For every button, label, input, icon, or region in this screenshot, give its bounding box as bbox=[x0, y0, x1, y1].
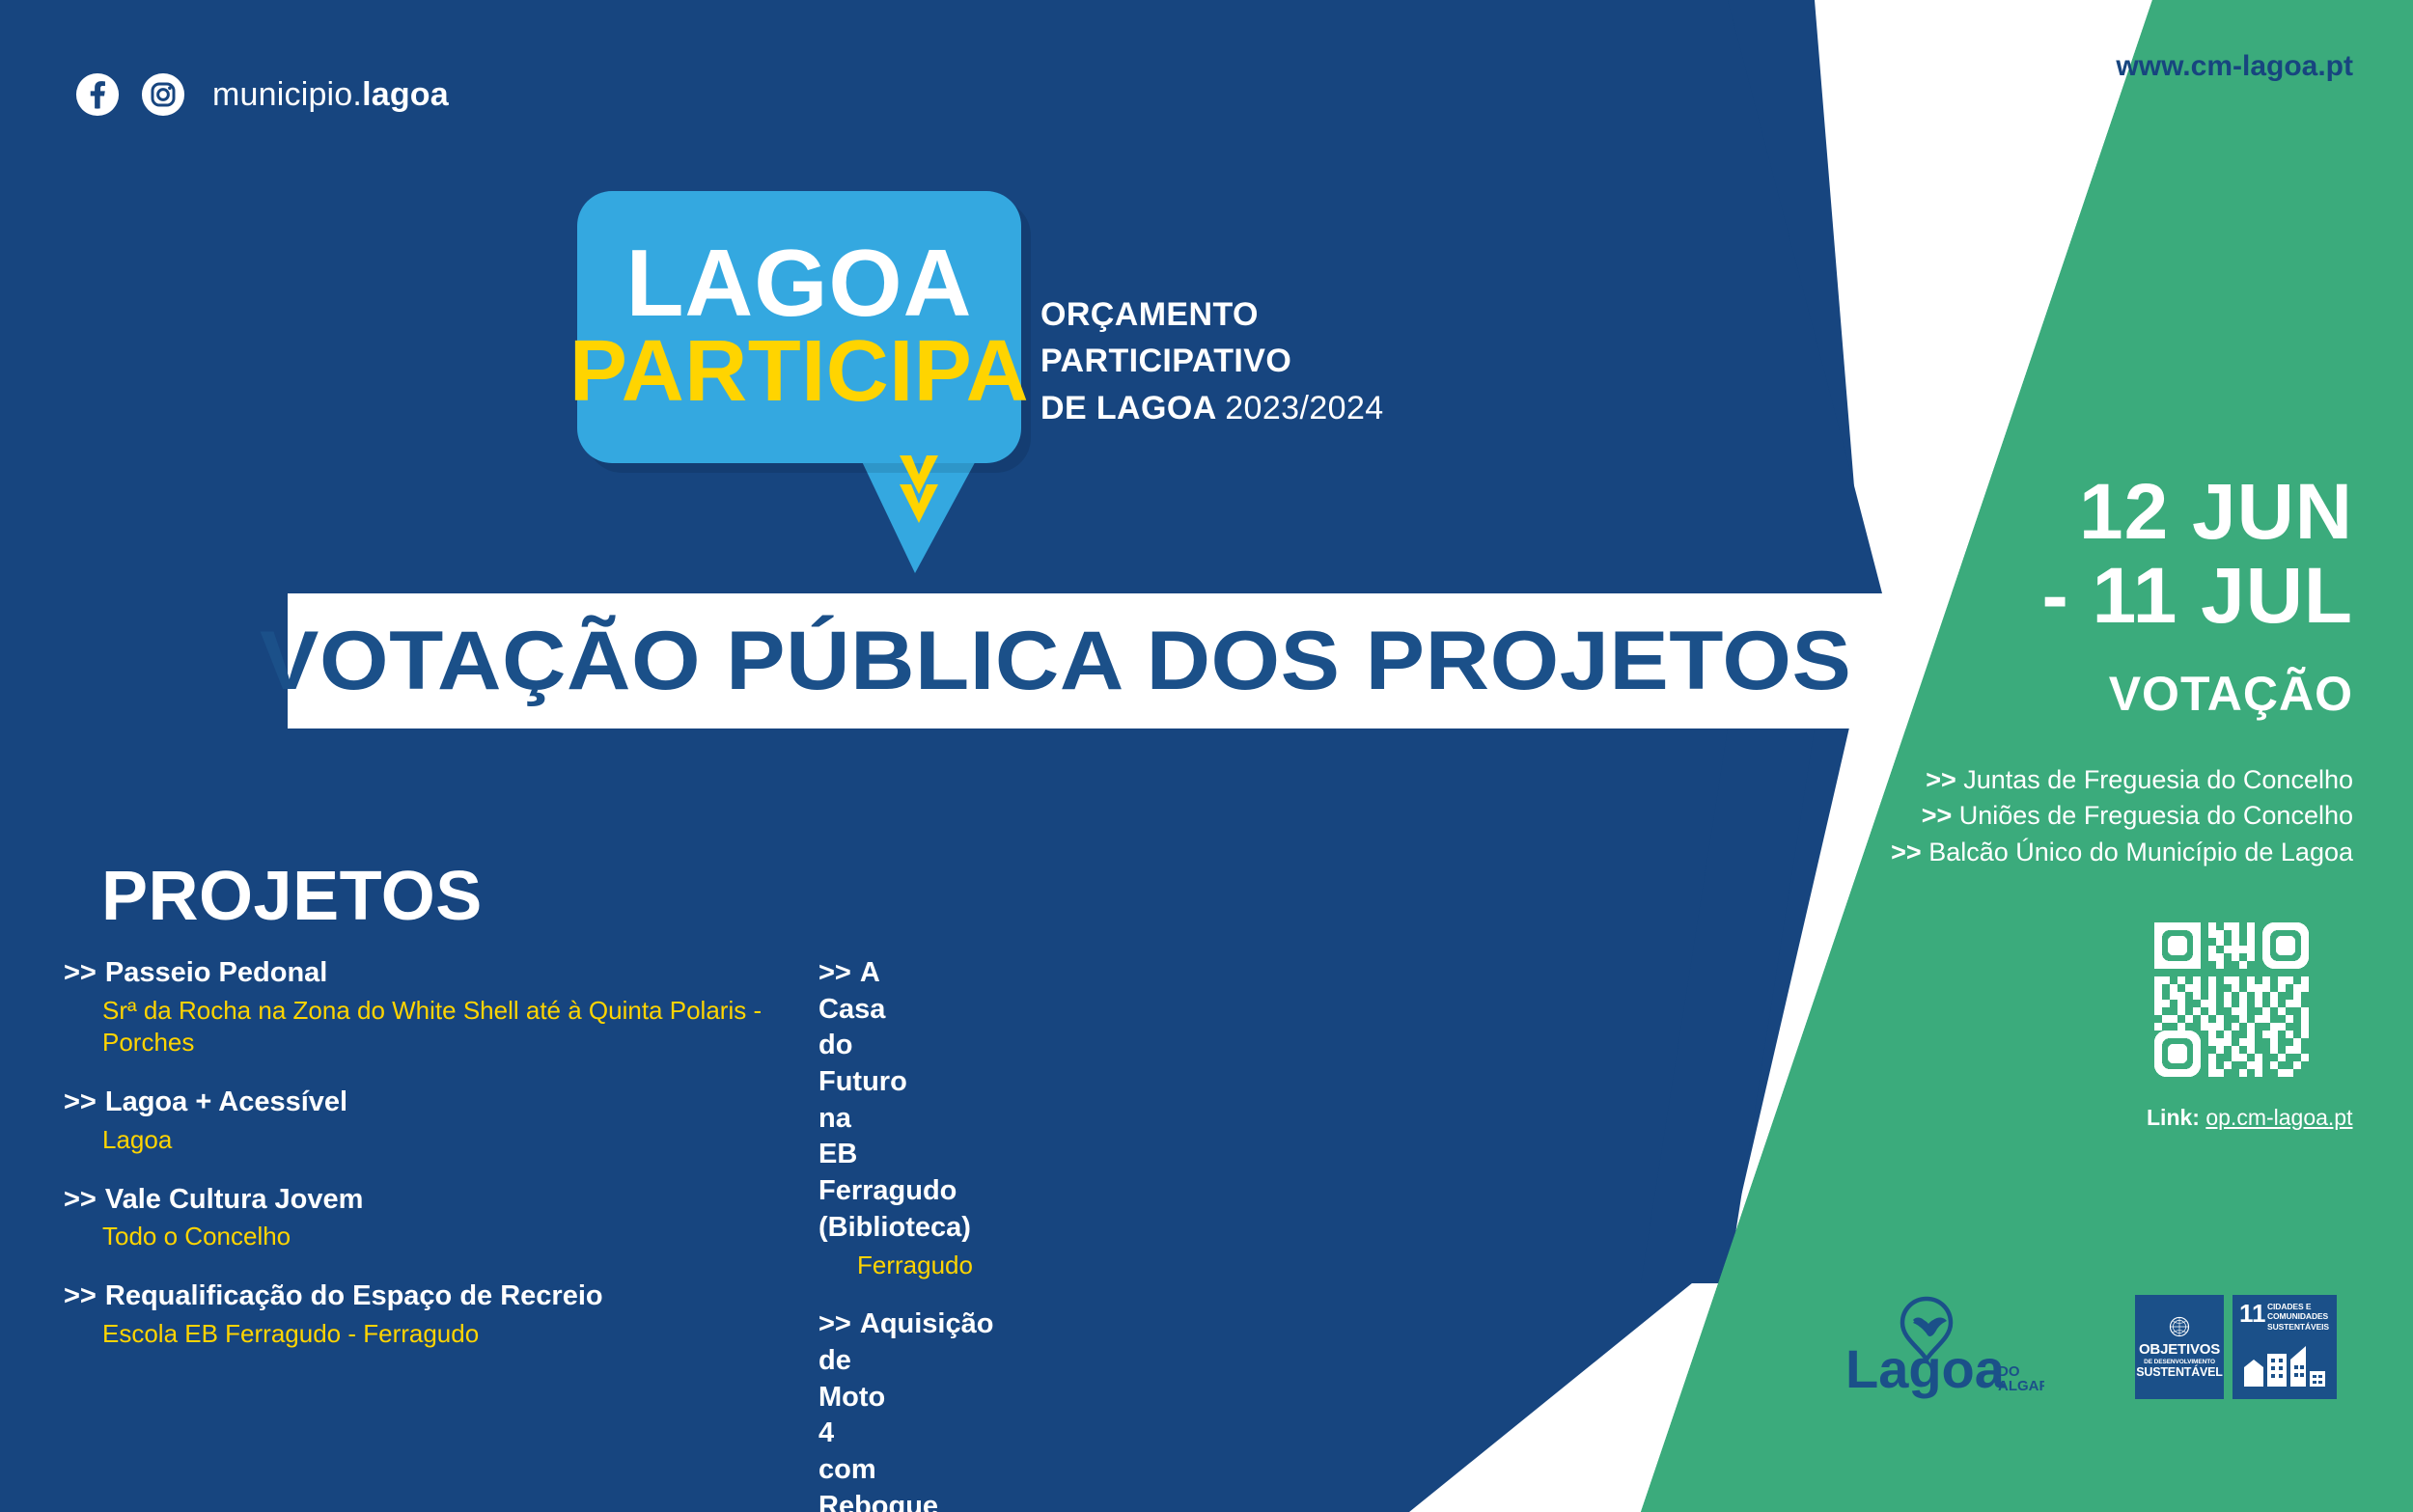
facebook-icon[interactable] bbox=[75, 72, 120, 117]
project-location: Ferragudo bbox=[818, 1250, 857, 1282]
subtitle-line-3-bold: DE LAGOA bbox=[1040, 390, 1215, 426]
social-handle-plain: municipio. bbox=[212, 76, 362, 113]
voting-places-list: >> Juntas de Freguesia do Concelho>> Uni… bbox=[1891, 762, 2353, 870]
projects-right-column: >>A Casa do Futuro na EB Ferragudo (Bibl… bbox=[64, 955, 818, 1512]
website-url-prefix: www.cm- bbox=[2116, 50, 2242, 82]
subtitle-line-1: ORÇAMENTO bbox=[1040, 291, 1384, 338]
poster-canvas: municipio.lagoa www.cm-lagoa.pt LAGOA PA… bbox=[0, 0, 2413, 1512]
voting-date-end: - 11 JUL bbox=[2042, 555, 2353, 639]
subtitle-year-range: 2023/2024 bbox=[1225, 390, 1383, 426]
instagram-icon[interactable] bbox=[141, 72, 185, 117]
qr-link-line[interactable]: Link: op.cm-lagoa.pt bbox=[2147, 1105, 2352, 1131]
logo-line-lagoa: LAGOA bbox=[626, 237, 973, 328]
website-url[interactable]: www.cm-lagoa.pt bbox=[2116, 50, 2353, 83]
qr-link-url[interactable]: op.cm-lagoa.pt bbox=[2205, 1105, 2352, 1130]
lagoa-droplet-logo-icon: Lagoa DO ALGARVE bbox=[1842, 1291, 2044, 1404]
sdg-title: OBJETIVOS bbox=[2139, 1342, 2220, 1357]
voting-place-item: >> Uniões de Freguesia do Concelho bbox=[1891, 798, 2353, 834]
voting-dates: 12 JUN - 11 JUL bbox=[2042, 471, 2353, 639]
qr-link-label: Link: bbox=[2147, 1105, 2200, 1130]
voting-label: VOTAÇÃO bbox=[2109, 666, 2353, 722]
voting-place-item: >> Juntas de Freguesia do Concelho bbox=[1891, 762, 2353, 798]
main-title-banner: VOTAÇÃO PÚBLICA DOS PROJETOS bbox=[288, 598, 1824, 724]
social-handle-bold: lagoa bbox=[362, 76, 449, 113]
chevron-marker-icon: >> bbox=[1891, 838, 1928, 866]
qr-code-icon[interactable] bbox=[2147, 915, 2316, 1085]
sdg-goal-11-badge: 11 CIDADES E COMUNIDADES SUSTENTÁVEIS bbox=[2233, 1295, 2337, 1399]
subtitle-line-2: PARTICIPATIVO bbox=[1040, 338, 1384, 384]
green-diagonal-panel-top bbox=[1641, 0, 2413, 1512]
website-url-brand: lagoa bbox=[2242, 50, 2317, 82]
projects-heading: PROJETOS bbox=[101, 857, 483, 936]
chevron-marker-icon: >> bbox=[1926, 765, 1963, 794]
page-title: VOTAÇÃO PÚBLICA DOS PROJETOS bbox=[260, 614, 1851, 709]
social-row: municipio.lagoa bbox=[75, 72, 449, 117]
svg-text:ALGARVE: ALGARVE bbox=[1998, 1378, 2044, 1394]
voting-date-start: 12 JUN bbox=[2042, 471, 2353, 555]
sdg-subtitle-2: SUSTENTÁVEL bbox=[2136, 1366, 2222, 1379]
campaign-subtitle: ORÇAMENTO PARTICIPATIVO DE LAGOA 2023/20… bbox=[1040, 291, 1384, 431]
subtitle-line-3: DE LAGOA 2023/2024 bbox=[1040, 385, 1384, 431]
sdg-goal-number: 11 bbox=[2239, 1301, 2266, 1326]
lagoa-participa-logo: LAGOA PARTICIPA bbox=[577, 191, 1021, 463]
chevron-marker-icon: >> bbox=[818, 1308, 851, 1339]
chevron-marker-icon: >> bbox=[818, 957, 851, 988]
sdg-subtitle-1: DE DESENVOLVIMENTO bbox=[2144, 1359, 2215, 1365]
chevron-marker-icon: >> bbox=[1922, 801, 1959, 830]
double-chevron-down-icon bbox=[898, 452, 940, 523]
social-handle: municipio.lagoa bbox=[212, 76, 449, 114]
logo-line-participa: PARTICIPA bbox=[569, 328, 1029, 417]
voting-place-item: >> Balcão Único do Município de Lagoa bbox=[1891, 835, 2353, 870]
sdg-badges: OBJETIVOS DE DESENVOLVIMENTO SUSTENTÁVEL… bbox=[2135, 1295, 2337, 1399]
projects-columns: >>Passeio PedonalSrª da Rocha na Zona do… bbox=[64, 955, 1569, 1376]
united-nations-icon bbox=[2169, 1316, 2190, 1342]
website-url-suffix: .pt bbox=[2317, 50, 2353, 82]
sdg-objetivos-badge: OBJETIVOS DE DESENVOLVIMENTO SUSTENTÁVEL bbox=[2135, 1295, 2224, 1399]
sdg-goal-text: CIDADES E COMUNIDADES SUSTENTÁVEIS bbox=[2267, 1302, 2337, 1332]
buildings-icon bbox=[2242, 1344, 2327, 1391]
svg-text:Lagoa: Lagoa bbox=[1845, 1338, 2006, 1399]
